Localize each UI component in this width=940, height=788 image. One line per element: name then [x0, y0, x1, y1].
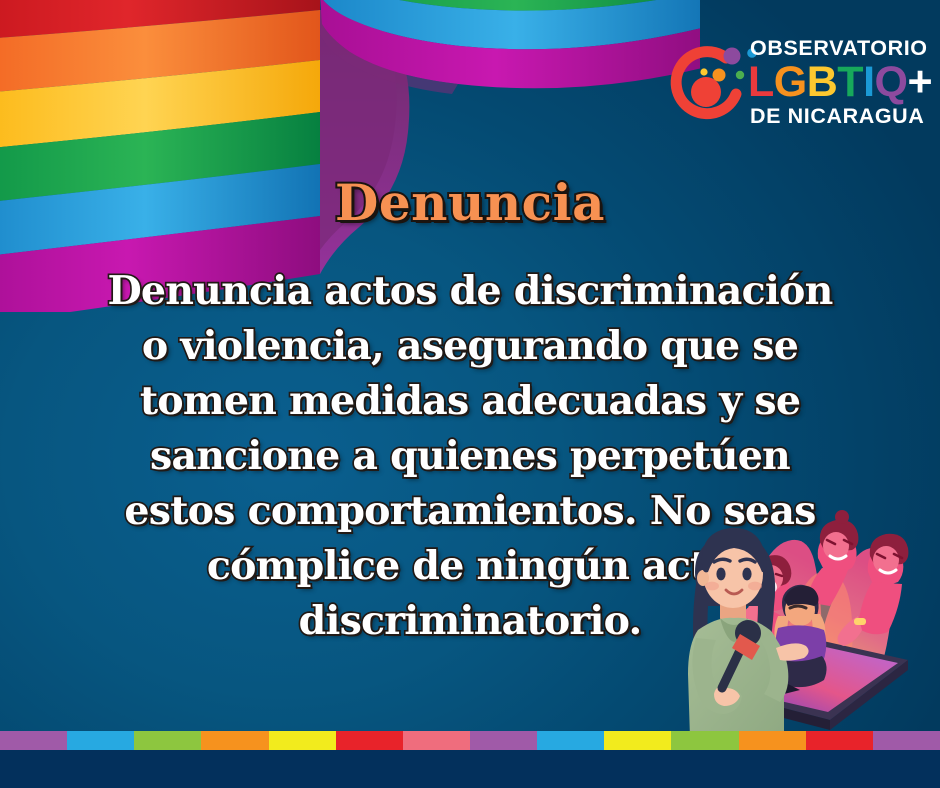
reporter-eye-right	[742, 568, 751, 581]
flag-fold	[320, 9, 409, 274]
acronym-letter-t: T	[837, 58, 863, 106]
stripe-segment-9	[604, 731, 671, 750]
stripe-segment-2	[134, 731, 201, 750]
acronym-letter-q: Q	[875, 58, 908, 106]
reporter-eye-left	[716, 568, 725, 581]
stripe-segment-5	[336, 731, 403, 750]
flag-right-wave	[320, 0, 700, 94]
acronym-letter-l: L	[748, 58, 774, 106]
stripe-segment-3	[201, 731, 268, 750]
logo-line-acronym: LGBTIQ+	[748, 61, 914, 105]
stripe-segment-4	[269, 731, 336, 750]
stripe-segment-7	[470, 731, 537, 750]
acronym-letter-g: G	[774, 58, 807, 106]
page-title: Denuncia	[0, 178, 940, 228]
stripe-segment-13	[873, 731, 940, 750]
acronym-letter-i: I	[863, 58, 874, 106]
illustration-svg	[672, 498, 940, 738]
stripe-segment-6	[403, 731, 470, 750]
stripe-segment-11	[739, 731, 806, 750]
acronym-letter-b: B	[807, 58, 838, 106]
observatorio-mark-icon	[664, 42, 756, 134]
reporter-and-cyberbullying-illustration	[672, 498, 940, 738]
organization-logo: OBSERVATORIO LGBTIQ+ DE NICARAGUA	[664, 38, 914, 142]
bottom-rainbow-stripe-bar	[0, 731, 940, 750]
logo-line-de-nicaragua: DE NICARAGUA	[750, 106, 914, 128]
logo-core-circle	[691, 77, 721, 107]
acronym-letter-plus: +	[907, 58, 932, 106]
yellow-dot	[700, 68, 707, 75]
stripe-segment-12	[806, 731, 873, 750]
orange-dot	[713, 69, 726, 82]
logo-wordmark: OBSERVATORIO LGBTIQ+ DE NICARAGUA	[748, 38, 914, 128]
footer-band	[0, 750, 940, 788]
logo-line-observatorio: OBSERVATORIO	[750, 38, 914, 60]
green-dot	[736, 71, 744, 79]
stripe-segment-10	[671, 731, 738, 750]
purple-dot	[724, 48, 741, 65]
stripe-segment-0	[0, 731, 67, 750]
poster-canvas: OBSERVATORIO LGBTIQ+ DE NICARAGUA Denunc…	[0, 0, 940, 788]
logo-mark-svg	[664, 42, 756, 134]
stripe-segment-8	[537, 731, 604, 750]
stripe-segment-1	[67, 731, 134, 750]
